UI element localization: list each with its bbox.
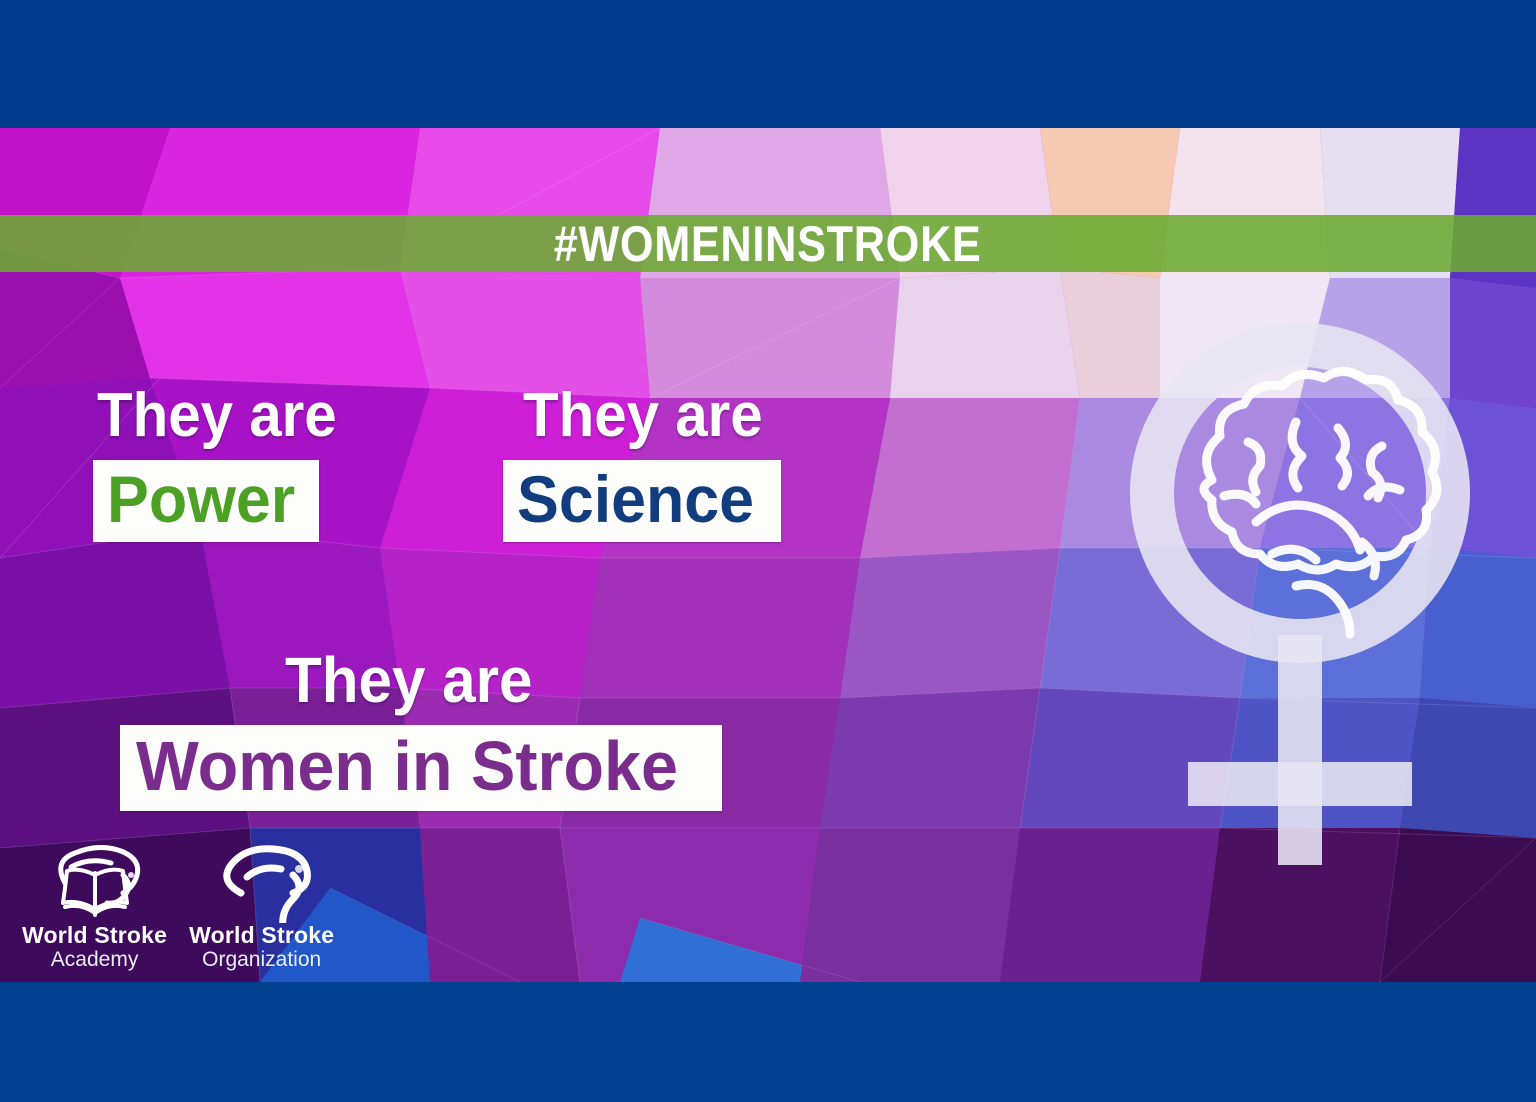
brain-book-icon: [35, 845, 155, 923]
frame-bar-bottom: [0, 982, 1536, 1102]
campaign-hashtag-text: #WOMENINSTROKE: [554, 219, 982, 269]
slogan-highlight-science-box: Science: [503, 460, 781, 542]
campaign-hashtag-banner: #WOMENINSTROKE: [0, 215, 1536, 272]
slogan-power: They are Power: [93, 385, 352, 542]
venus-symbol-with-brain-icon: [1100, 310, 1500, 910]
slogan-highlight-power-text: Power: [107, 466, 295, 532]
slogan-lead-science: They are: [523, 385, 765, 447]
logo-academy-line2: Academy: [51, 948, 139, 972]
slogan-highlight-women-in-stroke-box: Women in Stroke: [120, 725, 722, 811]
womeninstroke-poster: #WOMENINSTROKE They are Power They are S…: [0, 0, 1536, 1102]
logo-academy-line1: World Stroke: [22, 923, 167, 948]
slogan-lead-power: They are: [97, 385, 337, 447]
partner-logos: World Stroke Academy World Stroke Organi…: [22, 845, 334, 972]
slogan-women-in-stroke: They are Women in Stroke: [120, 648, 722, 811]
slogan-highlight-science-text: Science: [517, 466, 754, 532]
brain-swirl-icon: [207, 845, 317, 923]
logo-org-line1: World Stroke: [189, 923, 334, 948]
logo-world-stroke-academy: World Stroke Academy: [22, 845, 167, 972]
slogan-science: They are Science: [503, 385, 781, 542]
logo-world-stroke-organization: World Stroke Organization: [189, 845, 334, 972]
slogan-lead-women-in-stroke: They are: [285, 648, 696, 712]
frame-bar-top: [0, 0, 1536, 128]
venus-brain-emblem: [1100, 310, 1500, 910]
slogan-highlight-women-in-stroke-text: Women in Stroke: [136, 731, 678, 801]
logo-org-line2: Organization: [202, 948, 321, 972]
slogan-highlight-power-box: Power: [93, 460, 319, 542]
